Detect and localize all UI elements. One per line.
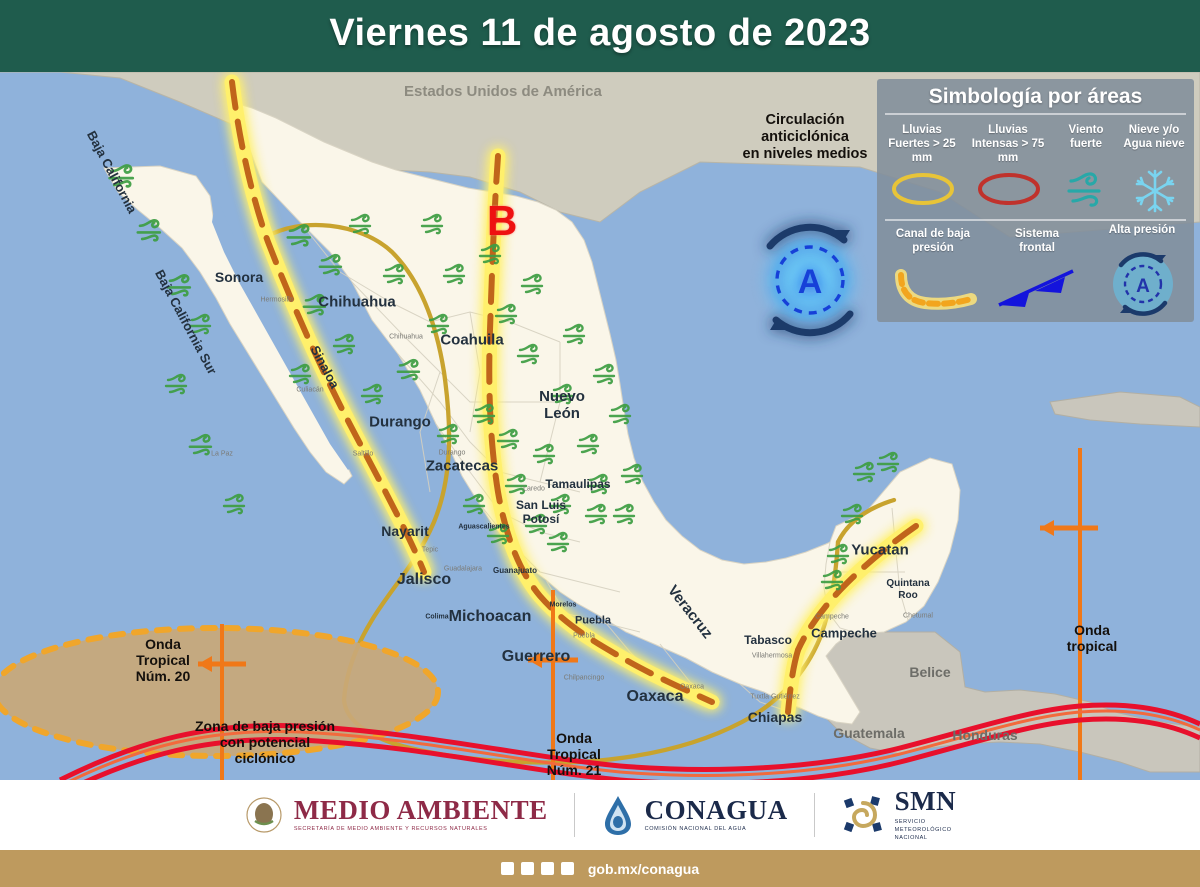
legend-panel: Simbología por áreas Lluvias Fuertes > 2… — [877, 79, 1194, 322]
medio-ambiente-subtitle: SECRETARÍA DE MEDIO AMBIENTE Y RECURSOS … — [294, 827, 548, 833]
legend-item-nieve: Nieve y/o Agua nieve — [1117, 123, 1191, 151]
legend-item-lluvias-intensas: Lluvias Intensas > 75 mm — [969, 123, 1047, 165]
gobmx-url[interactable]: gob.mx/conagua — [588, 861, 699, 877]
page-title: Viernes 11 de agosto de 2023 — [0, 12, 1200, 55]
high-pressure-icon: A — [1109, 251, 1177, 322]
svg-text:A: A — [798, 263, 823, 301]
footer-divider-1 — [574, 793, 575, 837]
low-pressure-b-north: B — [487, 200, 517, 242]
legend-item-canal-baja-presion: Canal de baja presión — [883, 227, 983, 255]
legend-title: Simbología por áreas — [877, 85, 1194, 109]
footer-bar: MEDIO AMBIENTE SECRETARÍA DE MEDIO AMBIE… — [0, 780, 1200, 850]
legend-divider-top — [885, 113, 1186, 115]
legend-item-viento-fuerte: Viento fuerte — [1053, 123, 1119, 151]
red-ellipse-icon — [977, 171, 1041, 212]
conagua-title: CONAGUA — [645, 797, 788, 824]
smn-title: SMN — [895, 788, 957, 815]
weather-map-page: Viernes 11 de agosto de 2023 — [0, 0, 1200, 887]
header-bar: Viernes 11 de agosto de 2023 — [0, 0, 1200, 72]
medio-ambiente-logo: MEDIO AMBIENTE SECRETARÍA DE MEDIO AMBIE… — [244, 795, 548, 835]
legend-item-sistema-frontal: Sistema frontal — [997, 227, 1077, 255]
anticyclone-symbol: A — [750, 220, 870, 340]
mexico-eagle-seal-icon — [244, 795, 284, 835]
medio-ambiente-title: MEDIO AMBIENTE — [294, 797, 548, 824]
svg-text:A: A — [1136, 276, 1150, 297]
conagua-water-drop-icon — [601, 793, 635, 837]
smn-subtitle: SERVICIO METEOROLÓGICO NACIONAL — [895, 818, 957, 842]
smn-logo: SMN SERVICIO METEOROLÓGICO NACIONAL — [841, 788, 957, 842]
wind-swirl-icon — [1065, 167, 1111, 216]
smn-spiral-icon — [841, 793, 885, 837]
low-pressure-trough-icon — [891, 269, 981, 318]
twitter-icon[interactable] — [521, 862, 534, 875]
footer-divider-2 — [814, 793, 815, 837]
social-bar: gob.mx/conagua — [0, 850, 1200, 887]
yellow-ellipse-icon — [891, 171, 955, 212]
instagram-icon[interactable] — [541, 862, 554, 875]
youtube-icon[interactable] — [561, 862, 574, 875]
conagua-subtitle: COMISIÓN NACIONAL DEL AGUA — [645, 827, 788, 833]
facebook-icon[interactable] — [501, 862, 514, 875]
legend-item-alta-presion: Alta presión — [1093, 223, 1191, 237]
legend-item-lluvias-fuertes: Lluvias Fuertes > 25 mm — [883, 123, 961, 165]
frontal-system-icon — [995, 265, 1081, 316]
snowflake-icon — [1131, 167, 1179, 220]
conagua-logo: CONAGUA COMISIÓN NACIONAL DEL AGUA — [601, 793, 788, 837]
